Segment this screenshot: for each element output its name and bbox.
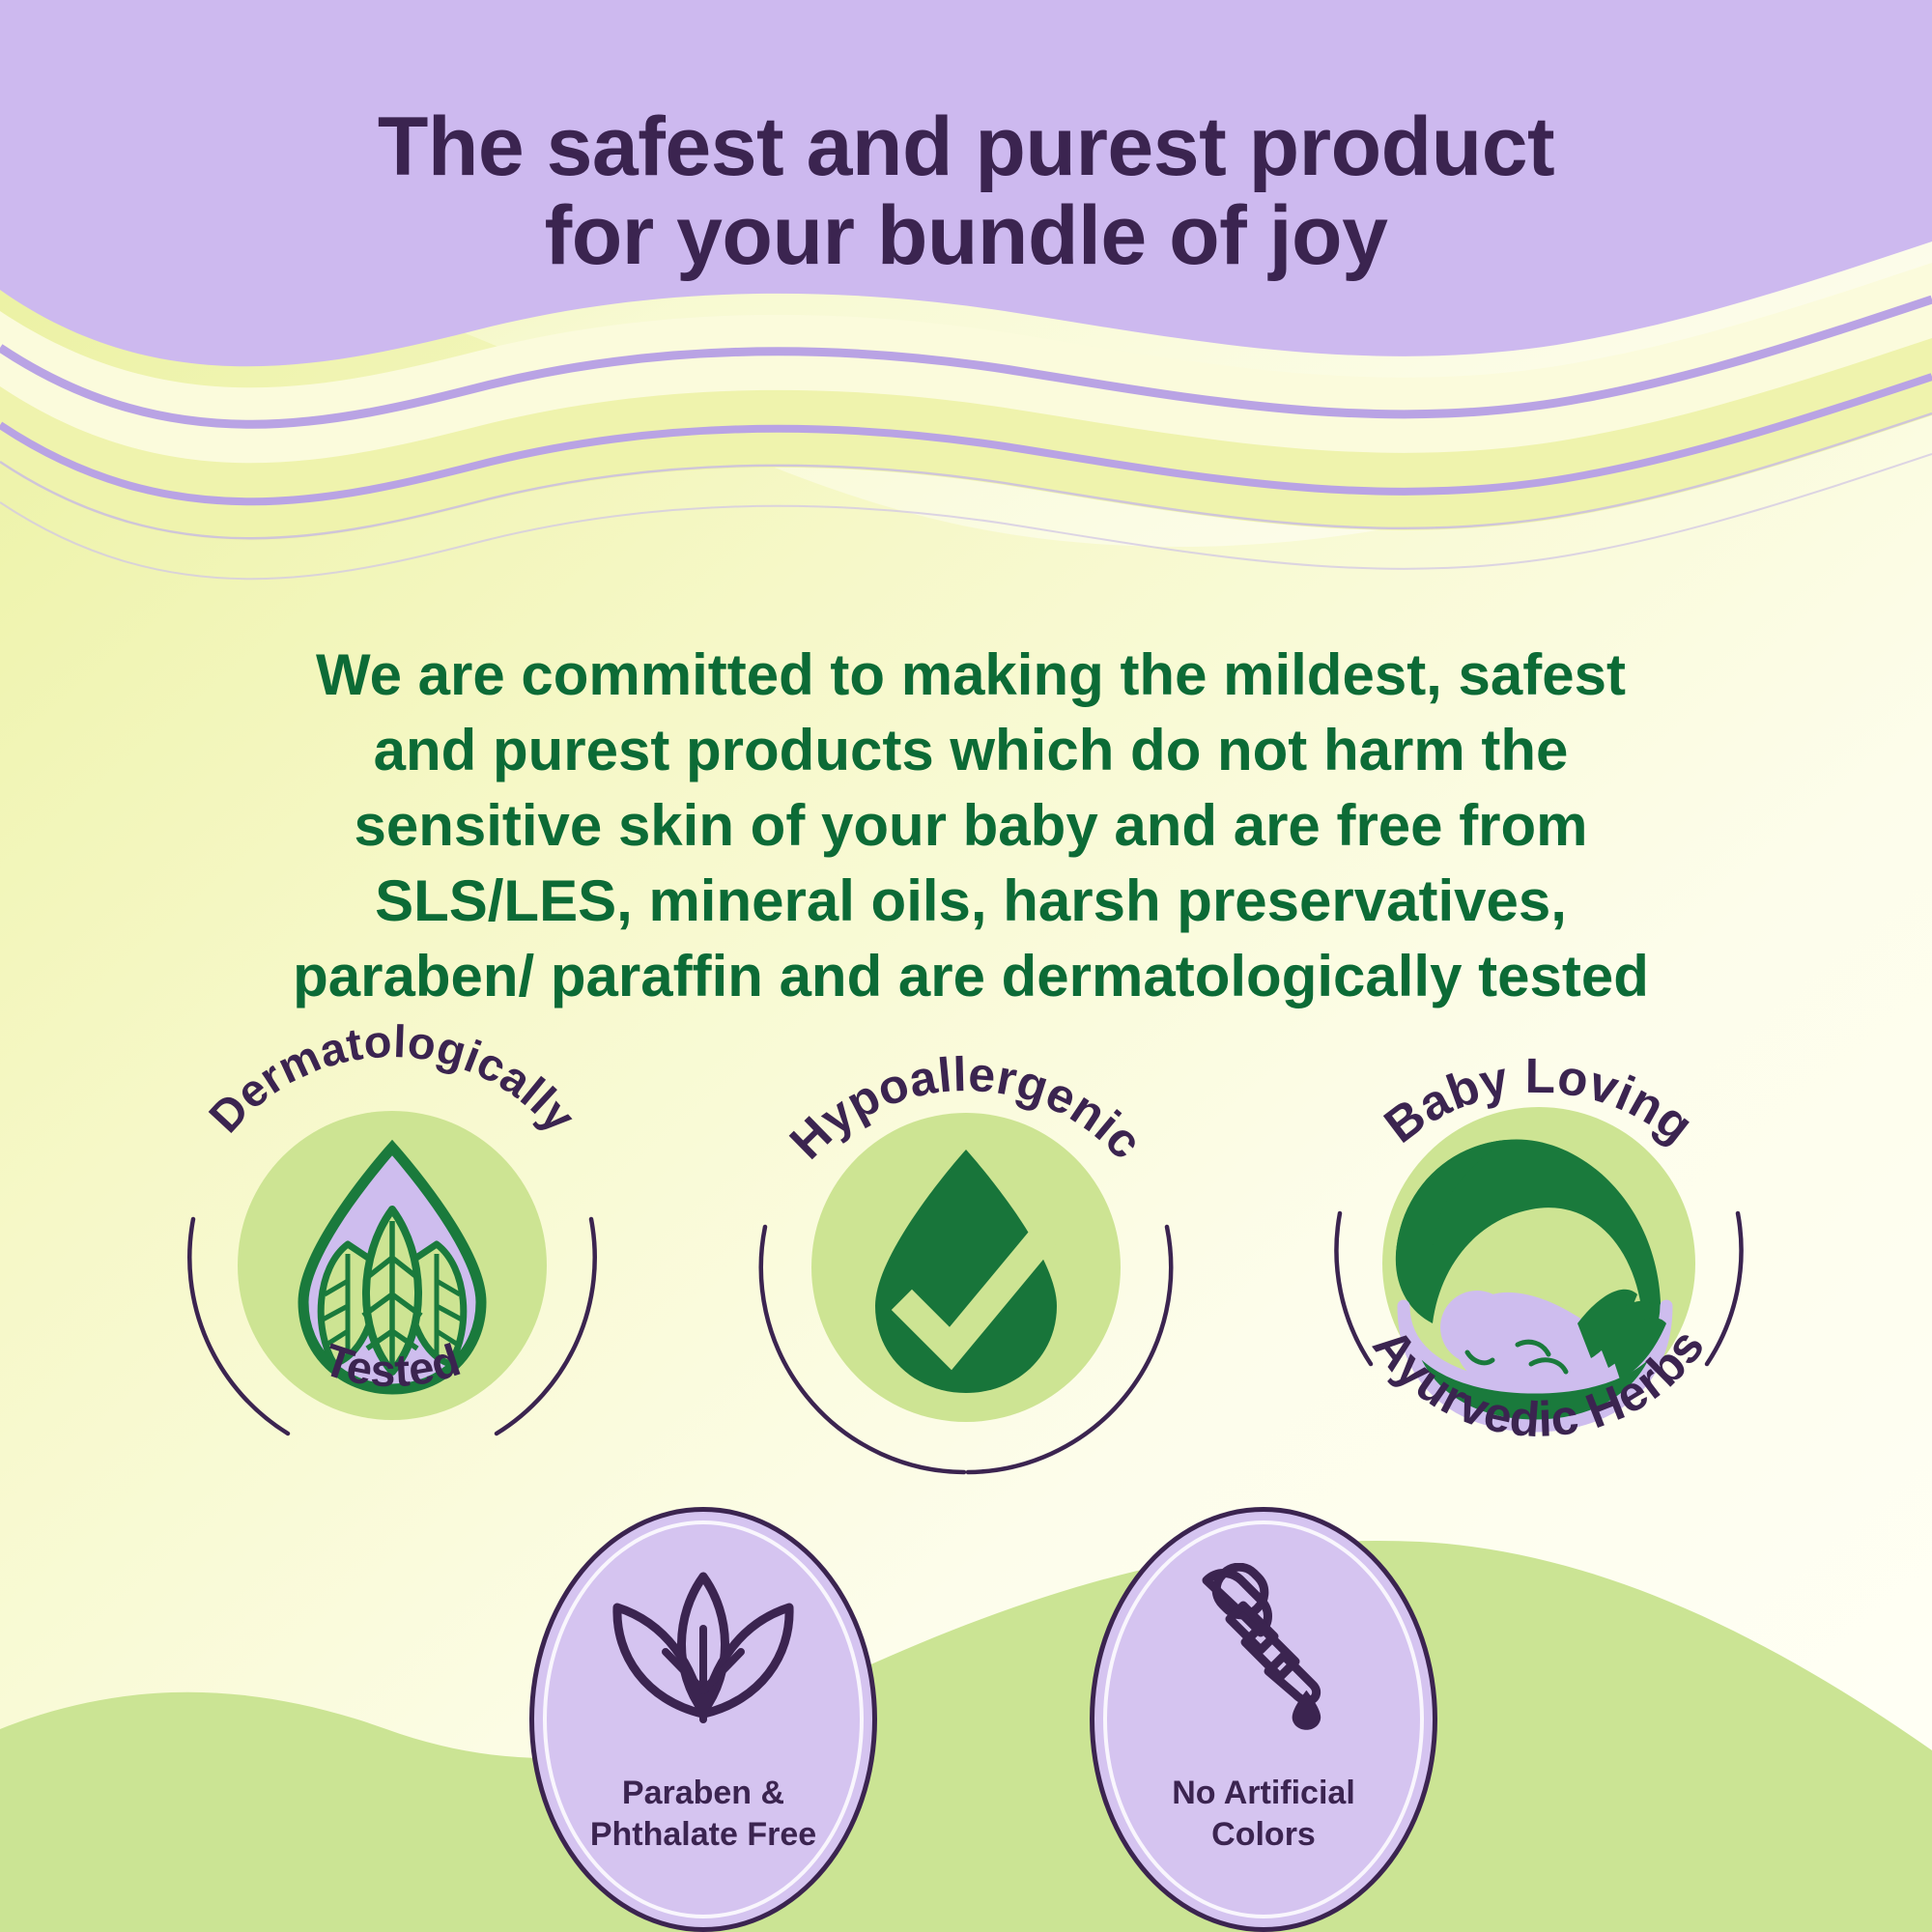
commitment-paragraph: We are committed to making the mildest, … — [155, 638, 1787, 1014]
pill-label-line-2: Colors — [1090, 1814, 1437, 1857]
title-line-2: for your bundle of joy — [0, 191, 1932, 280]
pill-no-artificial-colors[interactable]: No Artificial Colors — [1090, 1507, 1437, 1932]
pill-label-line-1: Paraben & — [529, 1773, 877, 1815]
body-line-5: paraben/ paraffin and are dermatological… — [155, 939, 1787, 1014]
dropper-icon — [1172, 1563, 1355, 1747]
body-line-1: We are committed to making the mildest, … — [155, 638, 1787, 713]
badge-outline-arc-right — [1707, 1213, 1742, 1364]
pill-label-line-2: Phthalate Free — [529, 1814, 877, 1857]
page-title: The safest and purest product for your b… — [0, 102, 1932, 280]
badge-baby-loving-ayurvedic-herbs[interactable]: Baby Loving Ayurvedic Herbs — [1288, 1005, 1790, 1507]
badge-hypoallergenic[interactable]: Hypoallergenic — [715, 1005, 1217, 1507]
body-line-4: SLS/LES, mineral oils, harsh preservativ… — [155, 864, 1787, 939]
pill-row: Paraben & Phthalate Free No Arti — [0, 1507, 1932, 1932]
pill-paraben-phthalate-free[interactable]: Paraben & Phthalate Free — [529, 1507, 877, 1932]
body-line-2: and purest products which do not harm th… — [155, 713, 1787, 788]
pill-label: Paraben & Phthalate Free — [529, 1773, 877, 1857]
pill-label: No Artificial Colors — [1090, 1773, 1437, 1857]
badge-outline-arc-left — [1336, 1213, 1371, 1364]
title-line-1: The safest and purest product — [378, 100, 1554, 193]
pill-label-line-1: No Artificial — [1090, 1773, 1437, 1815]
three-leaf-icon — [602, 1563, 805, 1737]
badge-row: Dermatologically Tested — [0, 1005, 1932, 1507]
body-line-3: sensitive skin of your baby and are free… — [155, 788, 1787, 864]
promo-poster: The safest and purest product for your b… — [0, 0, 1932, 1932]
badge-dermatologically-tested[interactable]: Dermatologically Tested — [141, 1005, 643, 1507]
